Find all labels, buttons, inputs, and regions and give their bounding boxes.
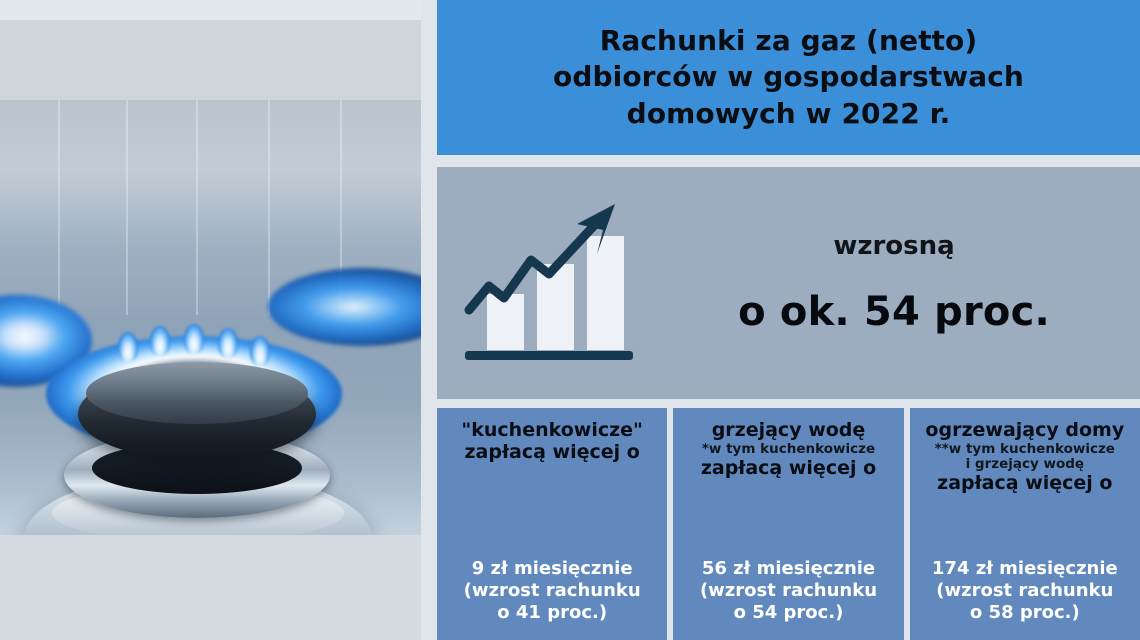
category-box-kuchenkowicze: "kuchenkowicze" zapłacą więcej o 9 zł mi… xyxy=(437,408,667,640)
title-banner: Rachunki za gaz (netto) odbiorców w gosp… xyxy=(437,0,1140,155)
category-subtitle: zapłacą więcej o xyxy=(443,442,661,463)
burner-cap-top xyxy=(86,362,308,424)
category-title: grzejący wodę xyxy=(679,420,897,441)
gas-stove-burner-photo xyxy=(0,100,421,535)
content-column: Rachunki za gaz (netto) odbiorców w gosp… xyxy=(421,0,1140,640)
category-box-head: grzejący wodę *w tym kuchenkowicze zapła… xyxy=(679,420,897,479)
category-title: "kuchenkowicze" xyxy=(443,420,661,441)
headline-stat-panel: wzrosną o ok. 54 proc. xyxy=(437,167,1140,399)
category-note: *w tym kuchenkowicze xyxy=(679,442,897,457)
category-box-grzejacy-wode: grzejący wodę *w tym kuchenkowicze zapła… xyxy=(673,408,903,640)
category-value: 56 zł miesięcznie (wzrost rachunku o 54 … xyxy=(679,558,897,624)
page-title: Rachunki za gaz (netto) odbiorców w gosp… xyxy=(553,23,1024,132)
stat-value: o ok. 54 proc. xyxy=(662,289,1126,335)
photo-column xyxy=(0,0,421,640)
category-title: ogrzewający domy xyxy=(916,420,1134,441)
headline-stat-text: wzrosną o ok. 54 proc. xyxy=(662,231,1140,335)
category-value: 9 zł miesięcznie (wzrost rachunku o 41 p… xyxy=(443,558,661,624)
category-subtitle: zapłacą więcej o xyxy=(679,458,897,479)
category-box-head: "kuchenkowicze" zapłacą więcej o xyxy=(443,420,661,464)
category-subtitle: zapłacą więcej o xyxy=(916,473,1134,494)
category-box-head: ogrzewający domy **w tym kuchenkowicze i… xyxy=(916,420,1134,494)
category-value: 174 zł miesięcznie (wzrost rachunku o 58… xyxy=(916,558,1134,624)
stat-label: wzrosną xyxy=(662,231,1126,261)
category-box-ogrzewajacy-domy: ogrzewający domy **w tym kuchenkowicze i… xyxy=(910,408,1140,640)
burner-flame-right xyxy=(268,268,421,346)
category-boxes-row: "kuchenkowicze" zapłacą więcej o 9 zł mi… xyxy=(437,408,1140,640)
rising-bar-chart-arrow-icon xyxy=(437,167,662,399)
photo-band-grey xyxy=(0,20,421,100)
photo-band-top xyxy=(0,0,421,20)
photo-band-bottom xyxy=(0,535,421,640)
category-note: **w tym kuchenkowicze i grzejący wodę xyxy=(916,442,1134,472)
